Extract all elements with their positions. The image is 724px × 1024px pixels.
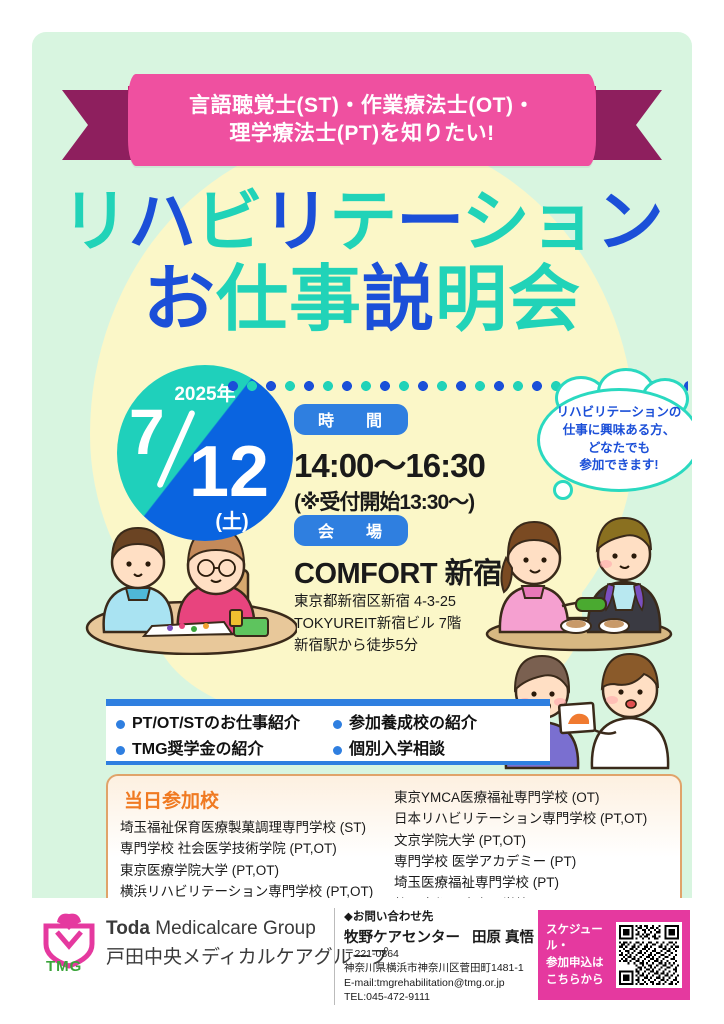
schools-column-right: 東京YMCA医療福祉専門学校 (OT) 日本リハビリテーション専門学校 (PT,… [394, 785, 668, 903]
title-char: お [143, 260, 216, 340]
list-item: 専門学校 医学アカデミー (PT) [394, 851, 668, 872]
program-highlights-panel: PT/OT/STのお仕事紹介 参加養成校の紹介 TMG奨学金の紹介 個別入学相談 [106, 699, 550, 765]
bubble-line-3: どなたでも [543, 440, 692, 458]
schools-heading: 当日参加校 [124, 786, 394, 813]
contact-tel: TEL:045-472-9111 [344, 990, 544, 1004]
time-note: (※受付開始13:30〜) [294, 486, 544, 516]
title-char: 説 [362, 260, 435, 340]
list-item: 参加養成校の紹介 [333, 711, 550, 737]
bullet-label: 参加養成校の紹介 [349, 712, 477, 736]
logo-text-light: Medicalcare Group [150, 918, 316, 939]
title-char: リ [61, 184, 128, 260]
ribbon-banner: 言語聴覚士(ST)・作業療法士(OT)・ 理学療法士(PT)を知りたい! [128, 74, 596, 166]
venue-address-2: TOKYUREIT新宿ビル 7階 [294, 614, 554, 636]
qr-signup-box[interactable]: スケジュール・ 参加申込は こちらから [538, 910, 690, 1000]
bullet-dot-icon [116, 746, 125, 755]
qr-code-icon[interactable] [616, 922, 682, 988]
poster-root: 言語聴覚士(ST)・作業療法士(OT)・ 理学療法士(PT)を知りたい! リハビ… [0, 0, 724, 1024]
bubble-line-2: 仕事に興味ある方、 [543, 422, 692, 440]
title-line-1: リハビリテーション [32, 188, 692, 256]
list-item: 個別入学相談 [333, 737, 550, 763]
title-char: リ [262, 184, 329, 260]
tmg-shield-icon: TMG [40, 912, 98, 974]
list-item: 専門学校 社会医学技術学院 (PT,OT) [120, 838, 394, 859]
bullet-label: TMG奨学金の紹介 [132, 738, 264, 762]
list-item: 文京学院大学 (PT,OT) [394, 830, 668, 851]
contact-address: 神奈川県横浜市神奈川区菅田町1481-1 [344, 961, 544, 975]
list-item: 日本リハビリテーション専門学校 (PT,OT) [394, 808, 668, 829]
time-value: 14:00〜16:30 [294, 439, 544, 487]
title-char: ン [596, 184, 663, 260]
banner-line-2: 理学療法士(PT)を知りたい! [229, 120, 494, 148]
title-char: ハ [128, 184, 195, 260]
bullet-label: PT/OT/STのお仕事紹介 [132, 712, 300, 736]
title-char: テ [329, 184, 396, 260]
time-block: 時 間 14:00〜16:30 (※受付開始13:30〜) [294, 404, 544, 516]
title-line-2: お仕事説明会 [32, 264, 692, 336]
contact-block: ◆お問い合わせ先 牧野ケアセンター田原 真悟 〒221-0864 神奈川県横浜市… [334, 908, 544, 1005]
contact-zip: 〒221-0864 [344, 947, 544, 961]
qr-line-1: スケジュール・ [546, 922, 616, 955]
contact-org-name: 牧野ケアセンター [344, 930, 460, 946]
date-day: 12 [189, 431, 269, 513]
list-item: 東京医療学院大学 (PT,OT) [120, 860, 394, 881]
qr-caption: スケジュール・ 参加申込は こちらから [546, 922, 616, 989]
page-title: リハビリテーション お仕事説明会 [32, 188, 692, 336]
participating-schools-box: 当日参加校 埼玉福祉保育医療製菓調理専門学校 (ST) 専門学校 社会医学技術学… [106, 774, 682, 914]
contact-person: 田原 真悟 [472, 930, 534, 946]
info-speech-bubble: リハビリテーションの 仕事に興味ある方、 どなたでも 参加できます! [537, 388, 692, 506]
list-item: 東京YMCA医療福祉専門学校 (OT) [394, 787, 668, 808]
footer: TMG Toda Medicalcare Group 戸田中央メディカルケアグル… [0, 898, 724, 1024]
qr-line-2: 参加申込は [546, 955, 616, 972]
venue-access: 新宿駅から徒歩5分 [294, 636, 554, 658]
title-char: 会 [508, 260, 581, 340]
header-ribbon: 言語聴覚士(ST)・作業療法士(OT)・ 理学療法士(PT)を知りたい! [32, 68, 692, 180]
title-char: 事 [289, 260, 362, 340]
banner-line-1: 言語聴覚士(ST)・作業療法士(OT)・ [189, 92, 535, 120]
contact-heading: ◆お問い合わせ先 [344, 908, 544, 924]
venue-address-1: 東京都新宿区新宿 4-3-25 [294, 592, 554, 614]
title-char: ー [396, 184, 462, 260]
contact-org: 牧野ケアセンター田原 真悟 [344, 926, 544, 947]
venue-block: 会 場 COMFORT 新宿 東京都新宿区新宿 4-3-25 TOKYUREIT… [294, 515, 554, 657]
time-label-pill: 時 間 [294, 404, 408, 435]
bullet-dot-icon [116, 720, 125, 729]
schools-column-left: 当日参加校 埼玉福祉保育医療製菓調理専門学校 (ST) 専門学校 社会医学技術学… [120, 785, 394, 903]
bubble-text: リハビリテーションの 仕事に興味ある方、 どなたでも 参加できます! [543, 404, 692, 475]
title-char: ョ [529, 184, 596, 260]
event-date-badge: 2025年 7 12 (土) [117, 365, 293, 541]
list-item: PT/OT/STのお仕事紹介 [116, 711, 333, 737]
date-weekday: (土) [117, 505, 293, 534]
list-item: TMG奨学金の紹介 [116, 737, 333, 763]
list-item: 埼玉医療福祉専門学校 (PT) [394, 872, 668, 893]
bullet-dot-icon [333, 720, 342, 729]
title-char: ビ [195, 184, 262, 260]
bullet-label: 個別入学相談 [349, 738, 445, 762]
bubble-line-4: 参加できます! [543, 457, 692, 475]
logo-text-bold: Toda [106, 918, 150, 939]
qr-line-3: こちらから [546, 972, 616, 989]
title-char: 仕 [216, 260, 289, 340]
bubble-tail [553, 480, 573, 500]
venue-name: COMFORT 新宿 [294, 550, 554, 592]
title-char: シ [462, 184, 529, 260]
bubble-line-1: リハビリテーションの [543, 404, 692, 422]
tmg-mark-text: TMG [46, 958, 82, 975]
title-char: 明 [435, 260, 508, 340]
bullet-dot-icon [333, 746, 342, 755]
date-month: 7 [129, 395, 165, 469]
venue-label-pill: 会 場 [294, 515, 408, 546]
list-item: 埼玉福祉保育医療製菓調理専門学校 (ST) [120, 817, 394, 838]
poster-card: 言語聴覚士(ST)・作業療法士(OT)・ 理学療法士(PT)を知りたい! リハビ… [32, 32, 692, 992]
contact-email: E-mail:tmgrehabilitation@tmg.or.jp [344, 976, 544, 990]
